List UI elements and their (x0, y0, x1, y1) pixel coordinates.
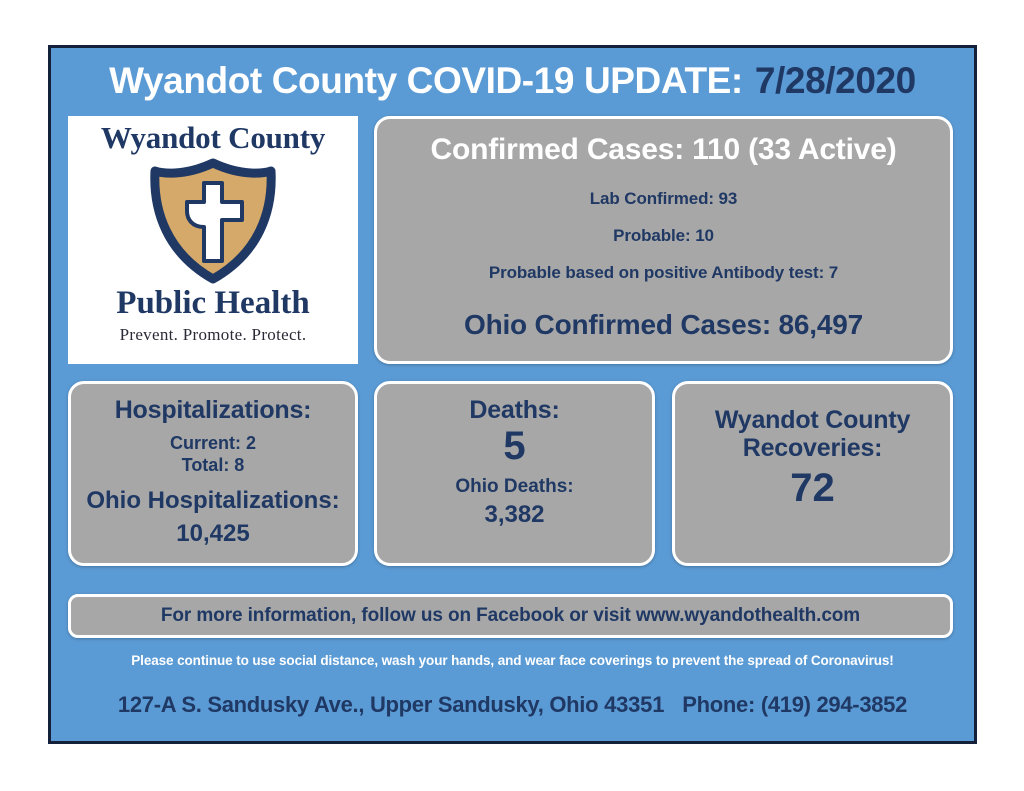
ohio-hospitalizations-label: Ohio Hospitalizations: (71, 487, 355, 516)
recoveries-value: 72 (675, 466, 950, 511)
ohio-deaths-value: 3,382 (377, 501, 652, 529)
prevention-note: Please continue to use social distance, … (51, 653, 974, 668)
logo-tagline: Prevent. Promote. Protect. (120, 325, 307, 345)
ohio-deaths-label: Ohio Deaths: (377, 476, 652, 498)
hospitalizations-card: Hospitalizations: Current: 2 Total: 8 Oh… (68, 381, 358, 566)
probable-stat: Probable: 10 (377, 226, 950, 246)
hospitalizations-title: Hospitalizations: (71, 396, 355, 424)
header-date-text: 7/28/2020 (755, 60, 916, 101)
recoveries-card: Wyandot County Recoveries: 72 (672, 381, 953, 566)
more-information-bar[interactable]: For more information, follow us on Faceb… (68, 594, 953, 638)
confirmed-cases-title: Confirmed Cases: 110 (33 Active) (377, 133, 950, 167)
ohio-confirmed-cases-stat: Ohio Confirmed Cases: 86,497 (377, 309, 950, 341)
deaths-value: 5 (377, 424, 652, 469)
more-information-text[interactable]: For more information, follow us on Faceb… (161, 605, 860, 627)
probable-antibody-stat: Probable based on positive Antibody test… (377, 263, 950, 283)
health-shield-cross-icon (147, 157, 279, 285)
logo-bottom-line: Public Health (116, 287, 309, 320)
address-text: 127-A S. Sandusky Ave., Upper Sandusky, … (118, 692, 604, 717)
lab-confirmed-stat: Lab Confirmed: 93 (377, 189, 950, 209)
recoveries-title-line1: Wyandot County (675, 406, 950, 434)
hospitalizations-current: Current: 2 (71, 433, 355, 455)
zip-code: 43351 (604, 692, 664, 717)
hospitalizations-total: Total: 8 (71, 455, 355, 477)
confirmed-cases-card: Confirmed Cases: 110 (33 Active) Lab Con… (374, 116, 953, 364)
deaths-title: Deaths: (377, 396, 652, 424)
header-title-text: Wyandot County COVID-19 UPDATE: (109, 60, 743, 101)
agency-logo: Wyandot County Public Health Prevent. Pr… (68, 116, 358, 364)
contact-line: 127-A S. Sandusky Ave., Upper Sandusky, … (51, 692, 974, 718)
ohio-hospitalizations-value: 10,425 (71, 520, 355, 549)
deaths-card: Deaths: 5 Ohio Deaths: 3,382 (374, 381, 655, 566)
page-title: Wyandot County COVID-19 UPDATE:7/28/2020 (51, 60, 974, 102)
phone-number: Phone: (419) 294-3852 (682, 692, 907, 717)
logo-top-line: Wyandot County (101, 122, 325, 155)
covid-update-poster: Wyandot County COVID-19 UPDATE:7/28/2020… (48, 45, 977, 744)
recoveries-title-line2: Recoveries: (675, 434, 950, 462)
